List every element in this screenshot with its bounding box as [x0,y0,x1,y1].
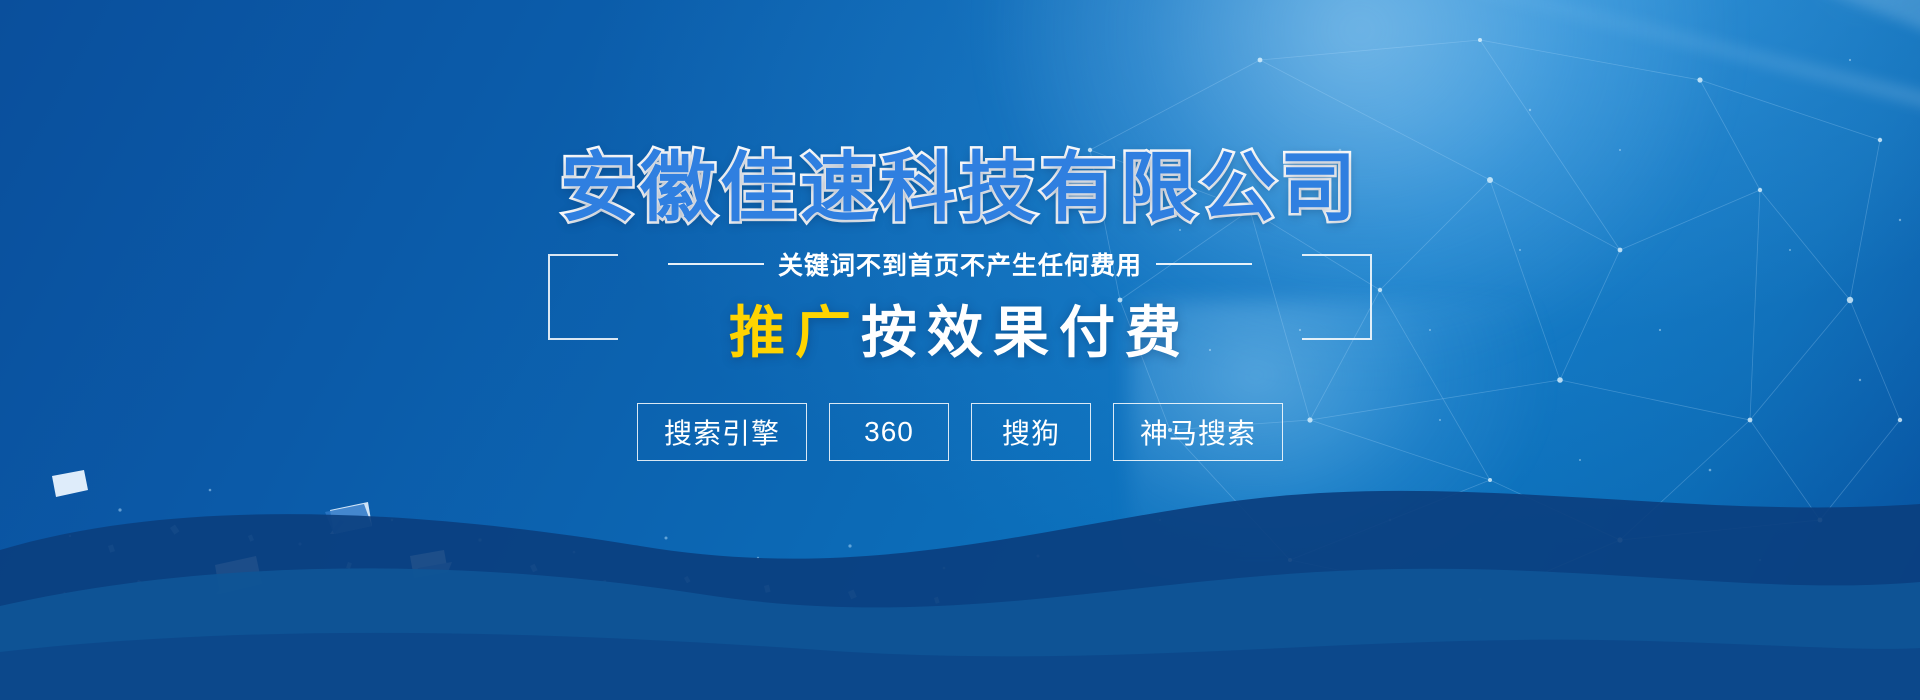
main-slogan: 推广按效果付费 [729,288,1191,369]
sub-slogan-text: 关键词不到首页不产生任何费用 [778,246,1142,282]
main-slogan-rest: 按效果付费 [861,301,1191,364]
engine-button-shenma[interactable]: 神马搜索 [1113,403,1283,461]
engine-button-360[interactable]: 360 [829,403,949,461]
main-slogan-highlight: 推广 [729,301,861,364]
rule-left-decoration [668,263,764,265]
promo-banner: 安徽佳速科技有限公司 关键词不到首页不产生任何费用 推广按效果付费 搜索引擎 3… [0,0,1920,700]
search-engine-button-group: 搜索引擎 360 搜狗 神马搜索 [637,403,1283,461]
rule-right-decoration [1156,263,1252,265]
page-title: 安徽佳速科技有限公司 [560,150,1360,226]
engine-button-sougou[interactable]: 搜狗 [971,403,1091,461]
sub-slogan-row: 关键词不到首页不产生任何费用 [668,246,1252,282]
bracket-left-decoration [548,254,618,340]
banner-content: 安徽佳速科技有限公司 关键词不到首页不产生任何费用 推广按效果付费 搜索引擎 3… [0,0,1920,700]
engine-button-sousuoyinqing[interactable]: 搜索引擎 [637,403,807,461]
slogan-block: 关键词不到首页不产生任何费用 推广按效果付费 [610,246,1310,369]
bracket-right-decoration [1302,254,1372,340]
